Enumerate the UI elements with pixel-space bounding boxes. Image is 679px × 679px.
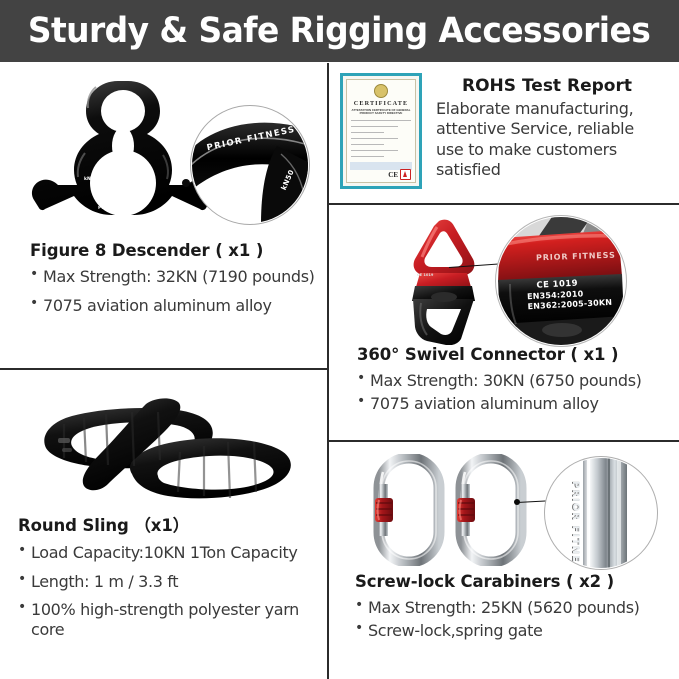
carabiners-title: Screw-lock Carabiners ( x2 ) bbox=[355, 572, 677, 591]
carabiner-svg-1 bbox=[371, 454, 447, 566]
swivel-detail-standards: CE 1019 EN354:2010 EN362:2005-30KN bbox=[526, 277, 612, 311]
sling-text-block: Round Sling （x1） Load Capacity:10KN 1Ton… bbox=[18, 512, 328, 648]
carabiner-callout-anchor-dot bbox=[514, 499, 520, 505]
certificate-rule bbox=[351, 126, 398, 127]
swivel-title: 360° Swivel Connector ( x1 ) bbox=[357, 345, 677, 364]
carabiners-bullet-list: Max Strength: 25KN (5620 pounds) Screw-l… bbox=[355, 598, 677, 640]
certificate-text-lines bbox=[347, 120, 415, 157]
page-title: Sturdy & Safe Rigging Accessories bbox=[28, 11, 650, 51]
list-item: 7075 aviation aluminum alloy bbox=[357, 394, 677, 414]
panel-round-sling: Round Sling （x1） Load Capacity:10KN 1Ton… bbox=[0, 370, 327, 679]
carabiner-detail-engraving: PRIOR FITNESS bbox=[570, 481, 581, 570]
swivel-connector-svg bbox=[387, 215, 507, 345]
sling-bullet-list: Load Capacity:10KN 1Ton Capacity Length:… bbox=[18, 543, 328, 639]
list-item: 100% high-strength polyester yarn core bbox=[18, 600, 328, 639]
round-sling-image bbox=[28, 388, 300, 506]
figure8-text-block: Figure 8 Descender ( x1 ) Max Strength: … bbox=[30, 241, 322, 324]
swivel-connector-image: CE 1019 bbox=[387, 215, 507, 345]
figure8-body-engraving-kn: kN50 bbox=[84, 178, 97, 183]
list-item: Screw-lock,spring gate bbox=[355, 621, 677, 641]
list-item: 7075 aviation aluminum alloy bbox=[30, 296, 322, 316]
list-item: Length: 1 m / 3.3 ft bbox=[18, 572, 328, 592]
panel-swivel-connector: CE 1019 bbox=[329, 205, 679, 440]
certificate-rule bbox=[351, 138, 398, 139]
certificate-rule bbox=[351, 144, 384, 145]
list-item: Max Strength: 32KN (7190 pounds) bbox=[30, 267, 322, 287]
certificate-inner: CERTIFICATE ATTESTATION CERTIFICATE OF G… bbox=[346, 79, 416, 183]
figure8-detail-svg bbox=[191, 106, 309, 224]
carabiners-text-block: Screw-lock Carabiners ( x2 ) Max Strengt… bbox=[355, 572, 677, 643]
certificate-subheading: ATTESTATION CERTIFICATE OF GENERAL PRODU… bbox=[347, 109, 415, 117]
product-infographic: Sturdy & Safe Rigging Accessories bbox=[0, 0, 679, 679]
carabiner-svg-2 bbox=[453, 454, 529, 566]
certificate-seal-icon bbox=[374, 84, 388, 98]
certificate-rule bbox=[351, 150, 398, 151]
carabiner-detail-svg bbox=[545, 457, 657, 569]
safety-mark-icon bbox=[400, 169, 411, 180]
figure8-title: Figure 8 Descender ( x1 ) bbox=[30, 241, 322, 260]
sling-title: Round Sling （x1） bbox=[18, 512, 328, 536]
swivel-text-block: 360° Swivel Connector ( x1 ) Max Strengt… bbox=[357, 345, 677, 416]
list-item: Max Strength: 25KN (5620 pounds) bbox=[355, 598, 677, 618]
swivel-detail-zoom-circle: PRIOR FITNESS CE 1019 EN354:2010 EN362:2… bbox=[495, 215, 627, 347]
ce-mark-icon: CE bbox=[388, 171, 398, 179]
list-item: Max Strength: 30KN (6750 pounds) bbox=[357, 371, 677, 391]
rohs-description: Elaborate manufacturing, attentive Servi… bbox=[436, 99, 658, 181]
certificate-rule bbox=[351, 120, 411, 121]
rohs-content: CERTIFICATE ATTESTATION CERTIFICATE OF G… bbox=[329, 63, 679, 189]
swivel-body-engraving: CE 1019 bbox=[417, 273, 433, 277]
carabiner-image-1 bbox=[371, 454, 447, 566]
certificate-rule bbox=[351, 156, 384, 157]
panel-figure8-descender: kN50 PRIOR FITNESS bbox=[0, 63, 327, 368]
panel-screwlock-carabiners: PRIOR FITNESS Screw-lock Carabiners ( x2… bbox=[329, 442, 679, 679]
certificate-image: CERTIFICATE ATTESTATION CERTIFICATE OF G… bbox=[340, 73, 422, 189]
figure8-callout-anchor-dot bbox=[182, 179, 190, 187]
panel-rohs-report: CERTIFICATE ATTESTATION CERTIFICATE OF G… bbox=[329, 63, 679, 203]
list-item: Load Capacity:10KN 1Ton Capacity bbox=[18, 543, 328, 563]
figure8-bullet-list: Max Strength: 32KN (7190 pounds) 7075 av… bbox=[30, 267, 322, 315]
round-sling-svg bbox=[28, 388, 300, 506]
certificate-heading: CERTIFICATE bbox=[347, 100, 415, 107]
rohs-text-block: ROHS Test Report Elaborate manufacturing… bbox=[436, 73, 658, 181]
carabiner-image-2 bbox=[453, 454, 529, 566]
certificate-rule bbox=[351, 132, 384, 133]
header-banner: Sturdy & Safe Rigging Accessories bbox=[0, 0, 679, 62]
swivel-bullet-list: Max Strength: 30KN (6750 pounds) 7075 av… bbox=[357, 371, 677, 413]
figure8-detail-zoom-circle: PRIOR FITNESS kN50 bbox=[190, 105, 310, 225]
certificate-marks: CE bbox=[388, 169, 411, 180]
rohs-title: ROHS Test Report bbox=[436, 76, 658, 96]
carabiner-detail-zoom-circle: PRIOR FITNESS bbox=[544, 456, 658, 570]
